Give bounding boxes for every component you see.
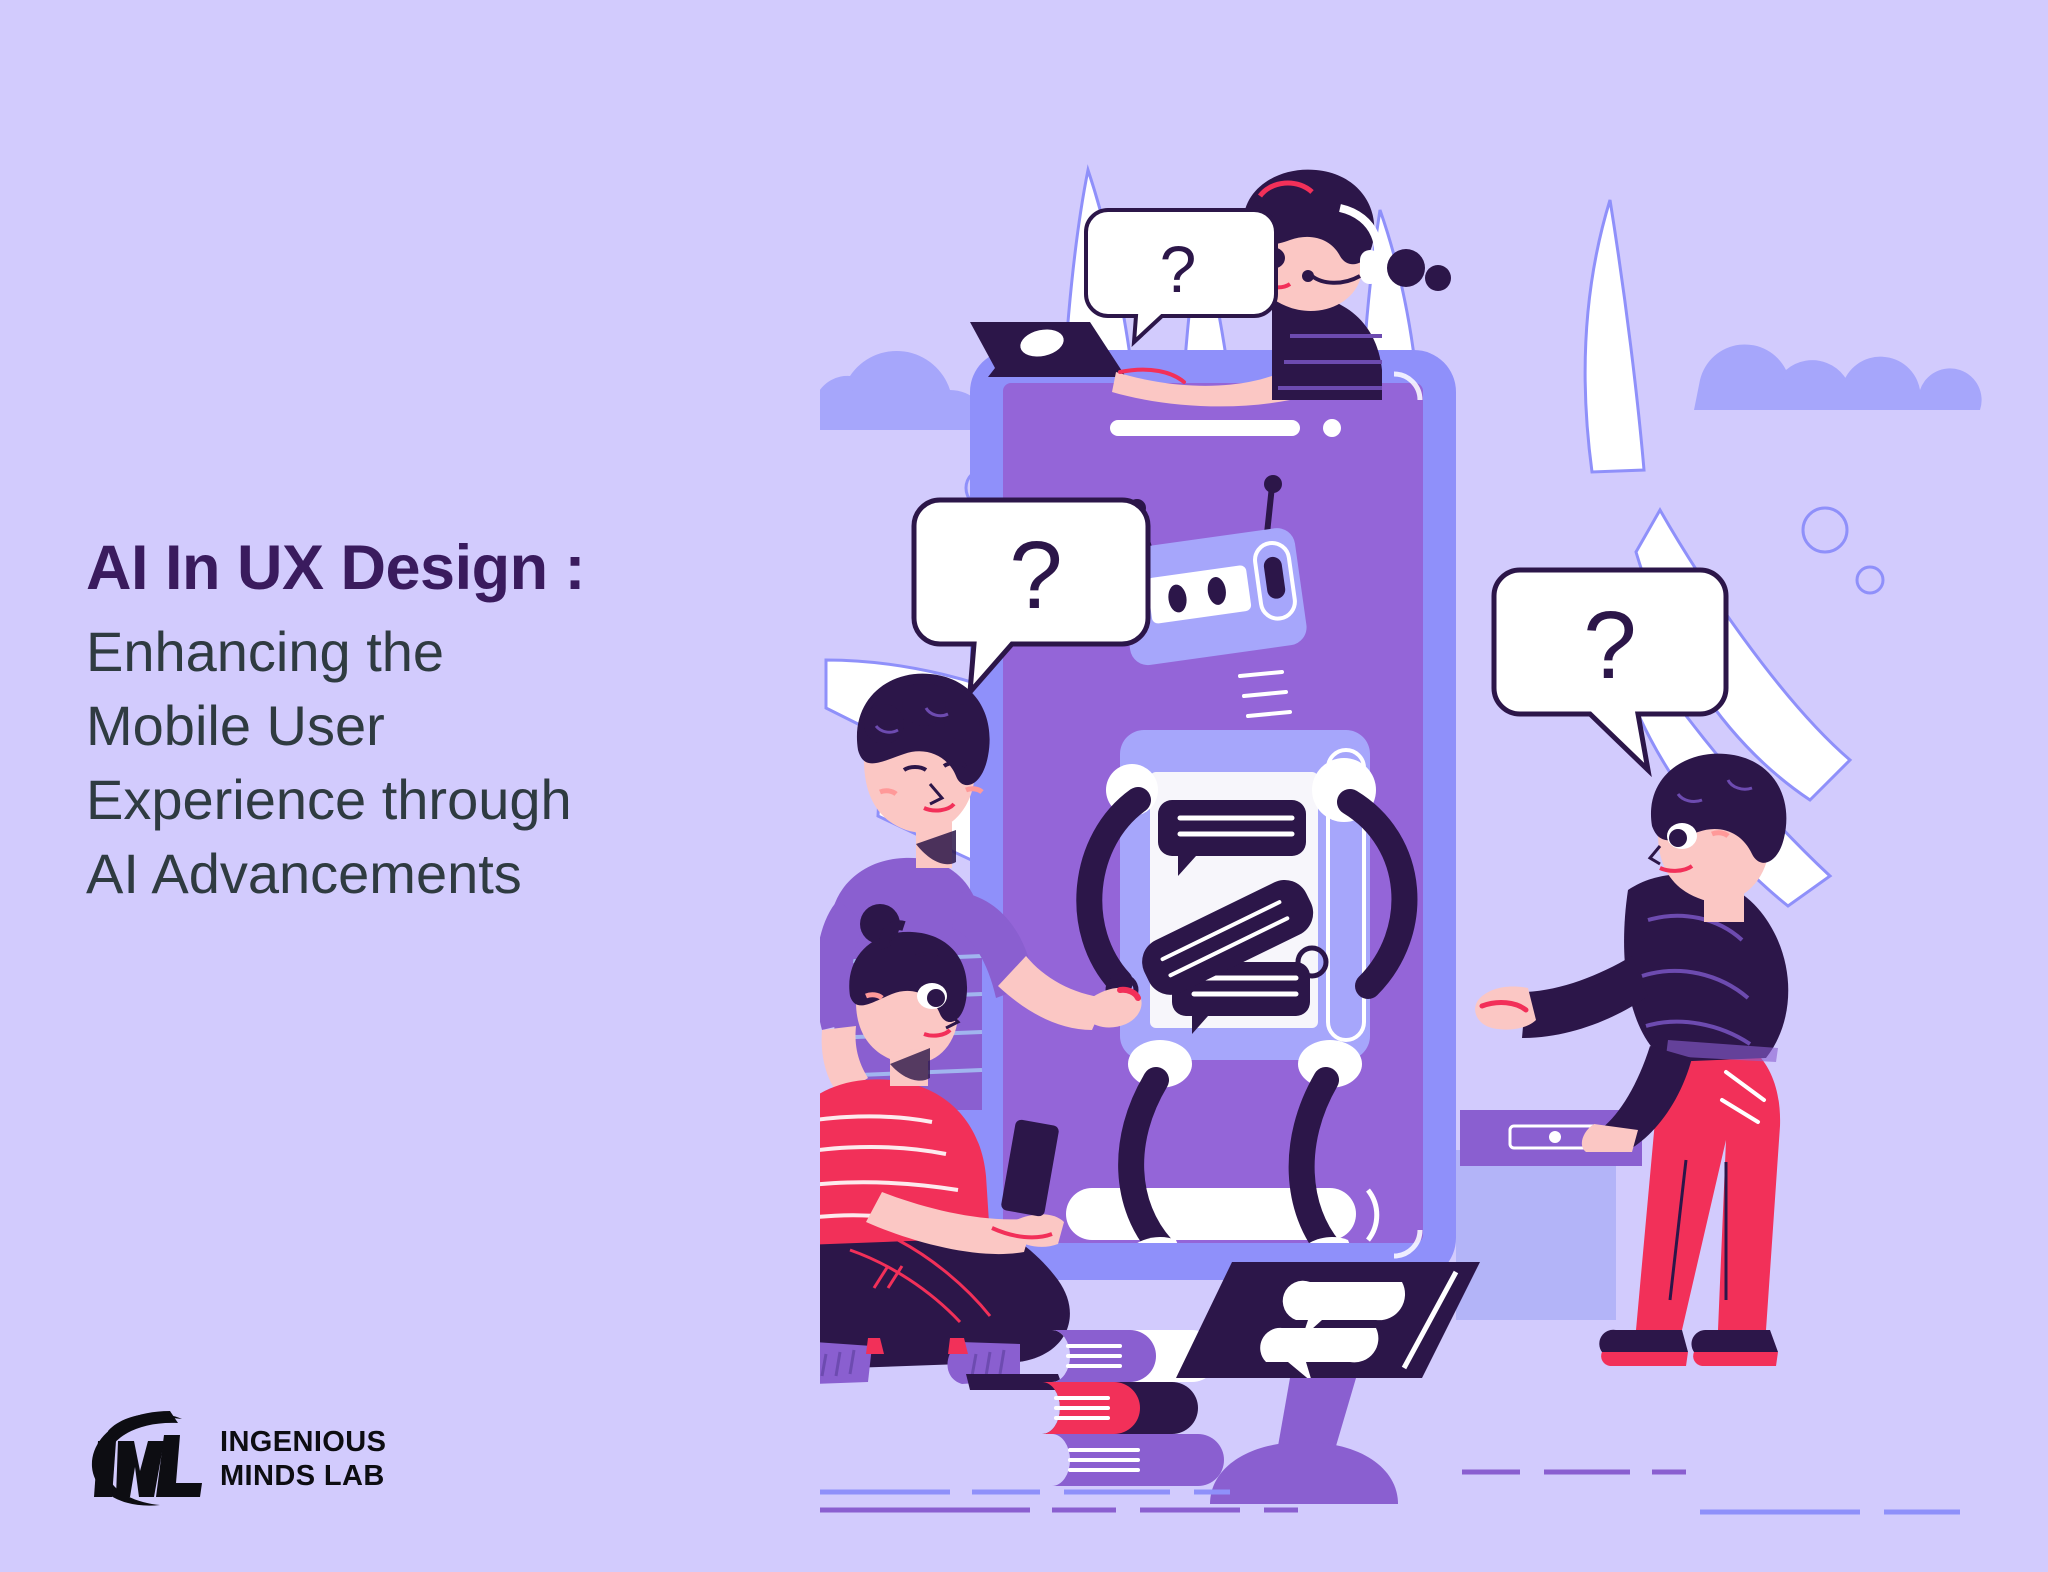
subtitle-line-4: AI Advancements <box>86 837 826 911</box>
question-mark-glyph: ? <box>1009 522 1062 629</box>
hero-illustration: ? ? ? <box>820 100 2048 1520</box>
phone-camera-dot <box>1323 419 1341 437</box>
brand-name-line-2: MINDS LAB <box>220 1459 386 1493</box>
question-mark-glyph: ? <box>1583 592 1636 699</box>
question-mark-glyph: ? <box>1160 232 1197 306</box>
slide-canvas: AI In UX Design : Enhancing the Mobile U… <box>0 0 2048 1572</box>
subtitle-line-3: Experience through <box>86 763 826 837</box>
page-subtitle: Enhancing the Mobile User Experience thr… <box>86 615 826 911</box>
brand-name-line-1: INGENIOUS <box>220 1425 386 1459</box>
subtitle-line-1: Enhancing the <box>86 615 826 689</box>
brand-logo: INGENIOUS MINDS LAB <box>86 1405 386 1513</box>
page-title: AI In UX Design : <box>86 530 826 607</box>
phone-speaker-slot <box>1110 420 1300 436</box>
subtitle-line-2: Mobile User <box>86 689 826 763</box>
headline-block: AI In UX Design : Enhancing the Mobile U… <box>86 530 826 910</box>
brand-name: INGENIOUS MINDS LAB <box>220 1425 386 1493</box>
iml-monogram-icon <box>86 1405 206 1513</box>
